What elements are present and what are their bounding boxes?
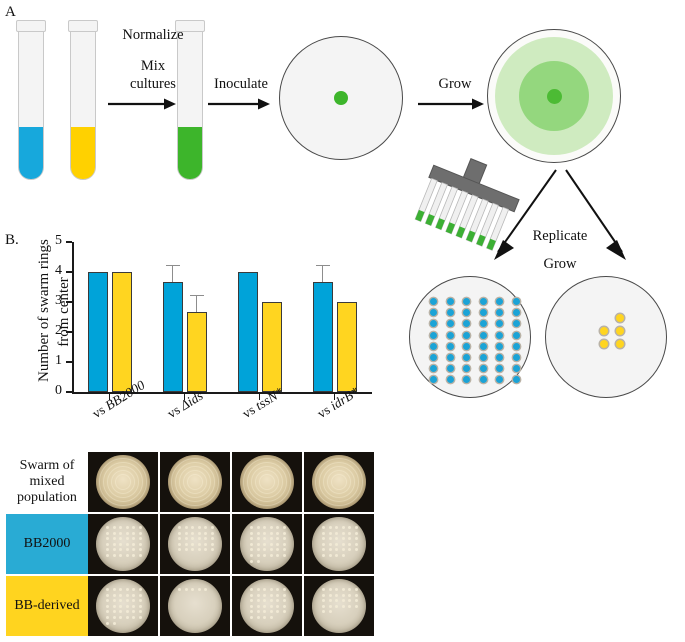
chart-y-tick-label: 3 bbox=[46, 293, 62, 309]
colony-spot bbox=[126, 526, 129, 529]
colony-spot bbox=[113, 594, 116, 597]
colony-spot bbox=[348, 526, 351, 529]
colony-spot bbox=[126, 616, 129, 619]
colony-spot bbox=[126, 554, 129, 557]
colony-spot bbox=[276, 543, 279, 546]
colony-spot bbox=[204, 548, 207, 551]
colony-spot bbox=[276, 526, 279, 529]
colony-spot bbox=[263, 543, 266, 546]
colony-spot bbox=[355, 605, 358, 608]
colony-dot bbox=[480, 320, 487, 327]
colony-spot bbox=[211, 532, 214, 535]
colony-spot bbox=[250, 616, 253, 619]
colony-spot bbox=[113, 616, 116, 619]
colony-spot bbox=[119, 554, 122, 557]
colony-spot bbox=[211, 526, 214, 529]
colony-spot bbox=[329, 537, 332, 540]
petri-dish bbox=[240, 579, 294, 633]
colony-spot bbox=[257, 610, 260, 613]
colony-spot bbox=[204, 588, 207, 591]
colony-spot bbox=[250, 548, 253, 551]
colony-spot bbox=[178, 537, 181, 540]
colony-spot bbox=[270, 526, 273, 529]
colony-spot bbox=[270, 548, 273, 551]
colony-dot bbox=[463, 320, 470, 327]
row-bb2000-label: BB2000 bbox=[6, 514, 88, 574]
colony-spot bbox=[106, 548, 109, 551]
colony-spot bbox=[211, 548, 214, 551]
colony-spot bbox=[139, 594, 142, 597]
colony-dot bbox=[496, 365, 503, 372]
colony-dot bbox=[480, 332, 487, 339]
colony-spot bbox=[178, 588, 181, 591]
colony-spot bbox=[263, 537, 266, 540]
row-swarm-mixed-label: Swarm ofmixedpopulation bbox=[6, 452, 88, 512]
colony-spot bbox=[348, 537, 351, 540]
arrow-grow bbox=[418, 96, 484, 112]
colony-spot bbox=[322, 532, 325, 535]
colony-dot bbox=[513, 343, 520, 350]
colony-spot bbox=[322, 605, 325, 608]
step-inoculate-label: Inoculate bbox=[200, 76, 282, 93]
colony-spot bbox=[113, 543, 116, 546]
colony-dot bbox=[480, 309, 487, 316]
colony-dot bbox=[447, 343, 454, 350]
colony-spot bbox=[113, 537, 116, 540]
chart-y-tick bbox=[66, 271, 72, 273]
colony-dot bbox=[616, 314, 624, 322]
colony-spot bbox=[342, 532, 345, 535]
colony-spot bbox=[132, 616, 135, 619]
colony-spot bbox=[329, 543, 332, 546]
colony-spot bbox=[132, 588, 135, 591]
colony-spot bbox=[348, 548, 351, 551]
colony-spot bbox=[270, 599, 273, 602]
chart-y-tick bbox=[66, 241, 72, 243]
petri-dish bbox=[96, 517, 150, 571]
colony-spot bbox=[198, 532, 201, 535]
colony-dot bbox=[513, 320, 520, 327]
colony-spot bbox=[342, 537, 345, 540]
colony-spot bbox=[178, 548, 181, 551]
colony-spot bbox=[132, 543, 135, 546]
colony-spot bbox=[185, 532, 188, 535]
colony-dot bbox=[430, 332, 437, 339]
colony-spot bbox=[322, 537, 325, 540]
colony-spot bbox=[113, 605, 116, 608]
colony-dot bbox=[496, 354, 503, 361]
petri-dish bbox=[96, 579, 150, 633]
colony-spot bbox=[335, 548, 338, 551]
chart-bar bbox=[163, 282, 183, 392]
petri-dish bbox=[240, 455, 294, 509]
colony-dot bbox=[447, 365, 454, 372]
colony-spot bbox=[204, 532, 207, 535]
colony-spot bbox=[342, 543, 345, 546]
colony-spot bbox=[257, 605, 260, 608]
colony-spot bbox=[250, 526, 253, 529]
colony-spot bbox=[355, 594, 358, 597]
colony-spot bbox=[342, 594, 345, 597]
colony-spot bbox=[113, 526, 116, 529]
inoculum-dot bbox=[334, 91, 348, 105]
colony-spot bbox=[283, 543, 286, 546]
chart-y-tick-label: 2 bbox=[46, 323, 62, 339]
swarm-center-dot bbox=[547, 89, 562, 104]
colony-spot bbox=[322, 543, 325, 546]
colony-spot bbox=[106, 594, 109, 597]
replicate-plate-bb-derived bbox=[545, 276, 667, 398]
colony-spot bbox=[335, 605, 338, 608]
colony-dot bbox=[447, 298, 454, 305]
colony-spot bbox=[250, 599, 253, 602]
row-bb-derived: BB-derived bbox=[6, 576, 374, 636]
colony-spot bbox=[263, 605, 266, 608]
blue-culture-tube bbox=[18, 20, 44, 180]
colony-spot bbox=[342, 599, 345, 602]
plate-photo bbox=[232, 576, 302, 636]
colony-spot bbox=[250, 605, 253, 608]
colony-spot bbox=[139, 554, 142, 557]
tube-liquid-blue bbox=[19, 127, 43, 179]
chart-y-tick-label: 0 bbox=[46, 383, 62, 399]
colony-spot bbox=[263, 532, 266, 535]
colony-dot bbox=[480, 298, 487, 305]
colony-spot bbox=[139, 526, 142, 529]
colony-spot bbox=[113, 588, 116, 591]
colony-spot bbox=[126, 605, 129, 608]
plate-photo bbox=[232, 514, 302, 574]
colony-dot bbox=[513, 309, 520, 316]
colony-spot bbox=[257, 548, 260, 551]
colony-spot bbox=[126, 610, 129, 613]
colony-dot bbox=[430, 298, 437, 305]
colony-spot bbox=[126, 537, 129, 540]
colony-spot bbox=[348, 594, 351, 597]
colony-spot bbox=[270, 532, 273, 535]
colony-spot bbox=[329, 554, 332, 557]
colony-spot bbox=[106, 588, 109, 591]
colony-spot bbox=[263, 548, 266, 551]
colony-dot bbox=[496, 309, 503, 316]
colony-dot bbox=[447, 332, 454, 339]
colony-spot bbox=[250, 554, 253, 557]
colony-spot bbox=[342, 605, 345, 608]
colony-spot bbox=[283, 548, 286, 551]
colony-spot bbox=[270, 554, 273, 557]
arrow-mix bbox=[108, 96, 176, 112]
colony-spot bbox=[132, 610, 135, 613]
colony-spot bbox=[276, 594, 279, 597]
colony-spot bbox=[270, 610, 273, 613]
colony-dot bbox=[513, 376, 520, 383]
colony-spot bbox=[178, 532, 181, 535]
plate-photo bbox=[304, 514, 374, 574]
chart-error-bar bbox=[322, 265, 324, 282]
colony-spot bbox=[283, 599, 286, 602]
swarm-ring bbox=[315, 458, 363, 506]
colony-spot bbox=[106, 616, 109, 619]
chart-error-cap bbox=[190, 295, 204, 297]
swarm-ring bbox=[243, 458, 291, 506]
row-bb2000: BB2000 bbox=[6, 514, 374, 574]
colony-spot bbox=[198, 548, 201, 551]
colony-dot bbox=[600, 340, 608, 348]
colony-spot bbox=[185, 526, 188, 529]
colony-dot bbox=[447, 376, 454, 383]
colony-spot bbox=[139, 616, 142, 619]
colony-spot bbox=[119, 605, 122, 608]
colony-spot bbox=[257, 526, 260, 529]
colony-spot bbox=[139, 599, 142, 602]
tube-liquid-yellow bbox=[71, 127, 95, 179]
colony-spot bbox=[355, 543, 358, 546]
colony-spot bbox=[250, 537, 253, 540]
colony-spot bbox=[139, 588, 142, 591]
colony-spot bbox=[322, 599, 325, 602]
colony-spot bbox=[355, 532, 358, 535]
petri-dish bbox=[168, 455, 222, 509]
colony-spot bbox=[191, 588, 194, 591]
colony-spot bbox=[106, 610, 109, 613]
chart-bar bbox=[187, 312, 207, 392]
colony-spot bbox=[276, 588, 279, 591]
colony-spot bbox=[263, 526, 266, 529]
swarm-ring bbox=[99, 458, 147, 506]
colony-spot bbox=[178, 526, 181, 529]
colony-spot bbox=[119, 616, 122, 619]
colony-spot bbox=[329, 599, 332, 602]
colony-spot bbox=[283, 526, 286, 529]
colony-spot bbox=[139, 548, 142, 551]
colony-spot bbox=[270, 537, 273, 540]
colony-spot bbox=[329, 605, 332, 608]
colony-dot bbox=[463, 343, 470, 350]
petri-dish bbox=[96, 455, 150, 509]
colony-dot bbox=[480, 365, 487, 372]
colony-spot bbox=[106, 605, 109, 608]
chart-y-tick bbox=[66, 301, 72, 303]
colony-spot bbox=[119, 532, 122, 535]
step-cultures-label: cultures bbox=[108, 76, 198, 93]
colony-dot bbox=[616, 340, 624, 348]
colony-spot bbox=[322, 594, 325, 597]
plate-photo bbox=[232, 452, 302, 512]
colony-spot bbox=[126, 588, 129, 591]
colony-dot bbox=[463, 354, 470, 361]
petri-dish bbox=[168, 579, 222, 633]
step-mix-label: Mix bbox=[108, 58, 198, 75]
chart-bar bbox=[238, 272, 258, 392]
chart-y-axis bbox=[72, 242, 74, 392]
colony-spot bbox=[355, 526, 358, 529]
colony-spot bbox=[322, 548, 325, 551]
colony-spot bbox=[178, 543, 181, 546]
colony-spot bbox=[335, 599, 338, 602]
colony-dot bbox=[463, 376, 470, 383]
colony-dot bbox=[447, 354, 454, 361]
colony-spot bbox=[257, 588, 260, 591]
plate-photo bbox=[304, 576, 374, 636]
plate-photo bbox=[88, 452, 158, 512]
colony-spot bbox=[335, 554, 338, 557]
colony-spot bbox=[257, 560, 260, 563]
chart-bar bbox=[262, 302, 282, 392]
colony-spot bbox=[348, 532, 351, 535]
colony-spot bbox=[132, 526, 135, 529]
chart-y-tick bbox=[66, 361, 72, 363]
colony-spot bbox=[198, 543, 201, 546]
colony-spot bbox=[263, 554, 266, 557]
colony-spot bbox=[185, 588, 188, 591]
colony-spot bbox=[329, 526, 332, 529]
colony-spot bbox=[119, 543, 122, 546]
petri-dish bbox=[312, 517, 366, 571]
colony-spot bbox=[132, 548, 135, 551]
colony-spot bbox=[119, 537, 122, 540]
colony-dot bbox=[480, 354, 487, 361]
colony-spot bbox=[355, 599, 358, 602]
colony-spot bbox=[283, 554, 286, 557]
plate-photo bbox=[88, 576, 158, 636]
colony-spot bbox=[191, 543, 194, 546]
colony-spot bbox=[335, 594, 338, 597]
colony-spot bbox=[322, 588, 325, 591]
colony-dot bbox=[463, 309, 470, 316]
colony-dot bbox=[496, 298, 503, 305]
colony-dot bbox=[480, 343, 487, 350]
colony-spot bbox=[119, 548, 122, 551]
colony-spot bbox=[126, 548, 129, 551]
chart-bar bbox=[88, 272, 108, 392]
colony-spot bbox=[106, 622, 109, 625]
colony-spot bbox=[263, 588, 266, 591]
colony-dot bbox=[496, 376, 503, 383]
colony-spot bbox=[355, 537, 358, 540]
chart-bar bbox=[112, 272, 132, 392]
plate-photo bbox=[160, 452, 230, 512]
colony-spot bbox=[250, 594, 253, 597]
colony-spot bbox=[276, 610, 279, 613]
chart-y-tick-label: 4 bbox=[46, 263, 62, 279]
colony-spot bbox=[257, 554, 260, 557]
colony-spot bbox=[132, 532, 135, 535]
colony-dot bbox=[430, 354, 437, 361]
colony-spot bbox=[263, 616, 266, 619]
colony-spot bbox=[270, 616, 273, 619]
colony-spot bbox=[276, 599, 279, 602]
colony-spot bbox=[126, 599, 129, 602]
petri-dish bbox=[312, 455, 366, 509]
chart-y-tick-label: 5 bbox=[46, 233, 62, 249]
colony-spot bbox=[198, 537, 201, 540]
colony-spot bbox=[132, 605, 135, 608]
tube-cap bbox=[16, 20, 46, 32]
colony-spot bbox=[257, 594, 260, 597]
plate-photo bbox=[160, 576, 230, 636]
colony-spot bbox=[126, 594, 129, 597]
colony-spot bbox=[191, 548, 194, 551]
colony-spot bbox=[322, 554, 325, 557]
colony-spot bbox=[139, 532, 142, 535]
colony-spot bbox=[113, 548, 116, 551]
colony-spot bbox=[355, 548, 358, 551]
colony-spot bbox=[204, 526, 207, 529]
yellow-culture-tube bbox=[70, 20, 96, 180]
colony-dot bbox=[480, 376, 487, 383]
colony-spot bbox=[329, 548, 332, 551]
colony-dot bbox=[513, 332, 520, 339]
colony-spot bbox=[329, 610, 332, 613]
colony-dot bbox=[447, 320, 454, 327]
colony-dot bbox=[616, 327, 624, 335]
colony-spot bbox=[106, 537, 109, 540]
colony-dot bbox=[447, 309, 454, 316]
chart-bar bbox=[313, 282, 333, 392]
colony-spot bbox=[276, 548, 279, 551]
plate-photo bbox=[160, 514, 230, 574]
colony-spot bbox=[139, 605, 142, 608]
colony-spot bbox=[276, 605, 279, 608]
colony-spot bbox=[204, 537, 207, 540]
colony-spot bbox=[139, 610, 142, 613]
colony-spot bbox=[139, 543, 142, 546]
colony-spot bbox=[113, 622, 116, 625]
colony-dot bbox=[430, 376, 437, 383]
petri-dish bbox=[240, 517, 294, 571]
colony-spot bbox=[250, 532, 253, 535]
colony-spot bbox=[119, 599, 122, 602]
colony-dot bbox=[513, 365, 520, 372]
panel-a-label: A bbox=[5, 4, 16, 21]
photo-panel: Swarm ofmixedpopulationBB2000BB-derived bbox=[6, 452, 376, 638]
colony-spot bbox=[191, 537, 194, 540]
colony-spot bbox=[119, 526, 122, 529]
colony-spot bbox=[283, 588, 286, 591]
figure-root: A Normalize Mix cultures Inoculate Grow bbox=[0, 0, 685, 642]
colony-spot bbox=[106, 554, 109, 557]
colony-spot bbox=[283, 610, 286, 613]
row-swarm-mixed: Swarm ofmixedpopulation bbox=[6, 452, 374, 512]
tube-liquid-green bbox=[178, 127, 202, 179]
colony-dot bbox=[600, 327, 608, 335]
colony-spot bbox=[342, 526, 345, 529]
colony-spot bbox=[283, 605, 286, 608]
colony-dot bbox=[496, 320, 503, 327]
colony-spot bbox=[335, 588, 338, 591]
colony-spot bbox=[132, 537, 135, 540]
plate-photo bbox=[88, 514, 158, 574]
colony-spot bbox=[329, 594, 332, 597]
colony-spot bbox=[276, 554, 279, 557]
colony-spot bbox=[250, 588, 253, 591]
colony-spot bbox=[342, 548, 345, 551]
colony-spot bbox=[250, 560, 253, 563]
colony-spot bbox=[329, 532, 332, 535]
colony-dot bbox=[463, 298, 470, 305]
chart-error-cap bbox=[316, 265, 330, 267]
colony-spot bbox=[132, 599, 135, 602]
colony-spot bbox=[113, 599, 116, 602]
colony-dot bbox=[513, 298, 520, 305]
colony-spot bbox=[185, 543, 188, 546]
petri-dish bbox=[312, 579, 366, 633]
colony-dot bbox=[513, 354, 520, 361]
colony-spot bbox=[211, 543, 214, 546]
swarm-ring bbox=[171, 458, 219, 506]
arrow-inoculate bbox=[208, 96, 270, 112]
colony-spot bbox=[191, 532, 194, 535]
